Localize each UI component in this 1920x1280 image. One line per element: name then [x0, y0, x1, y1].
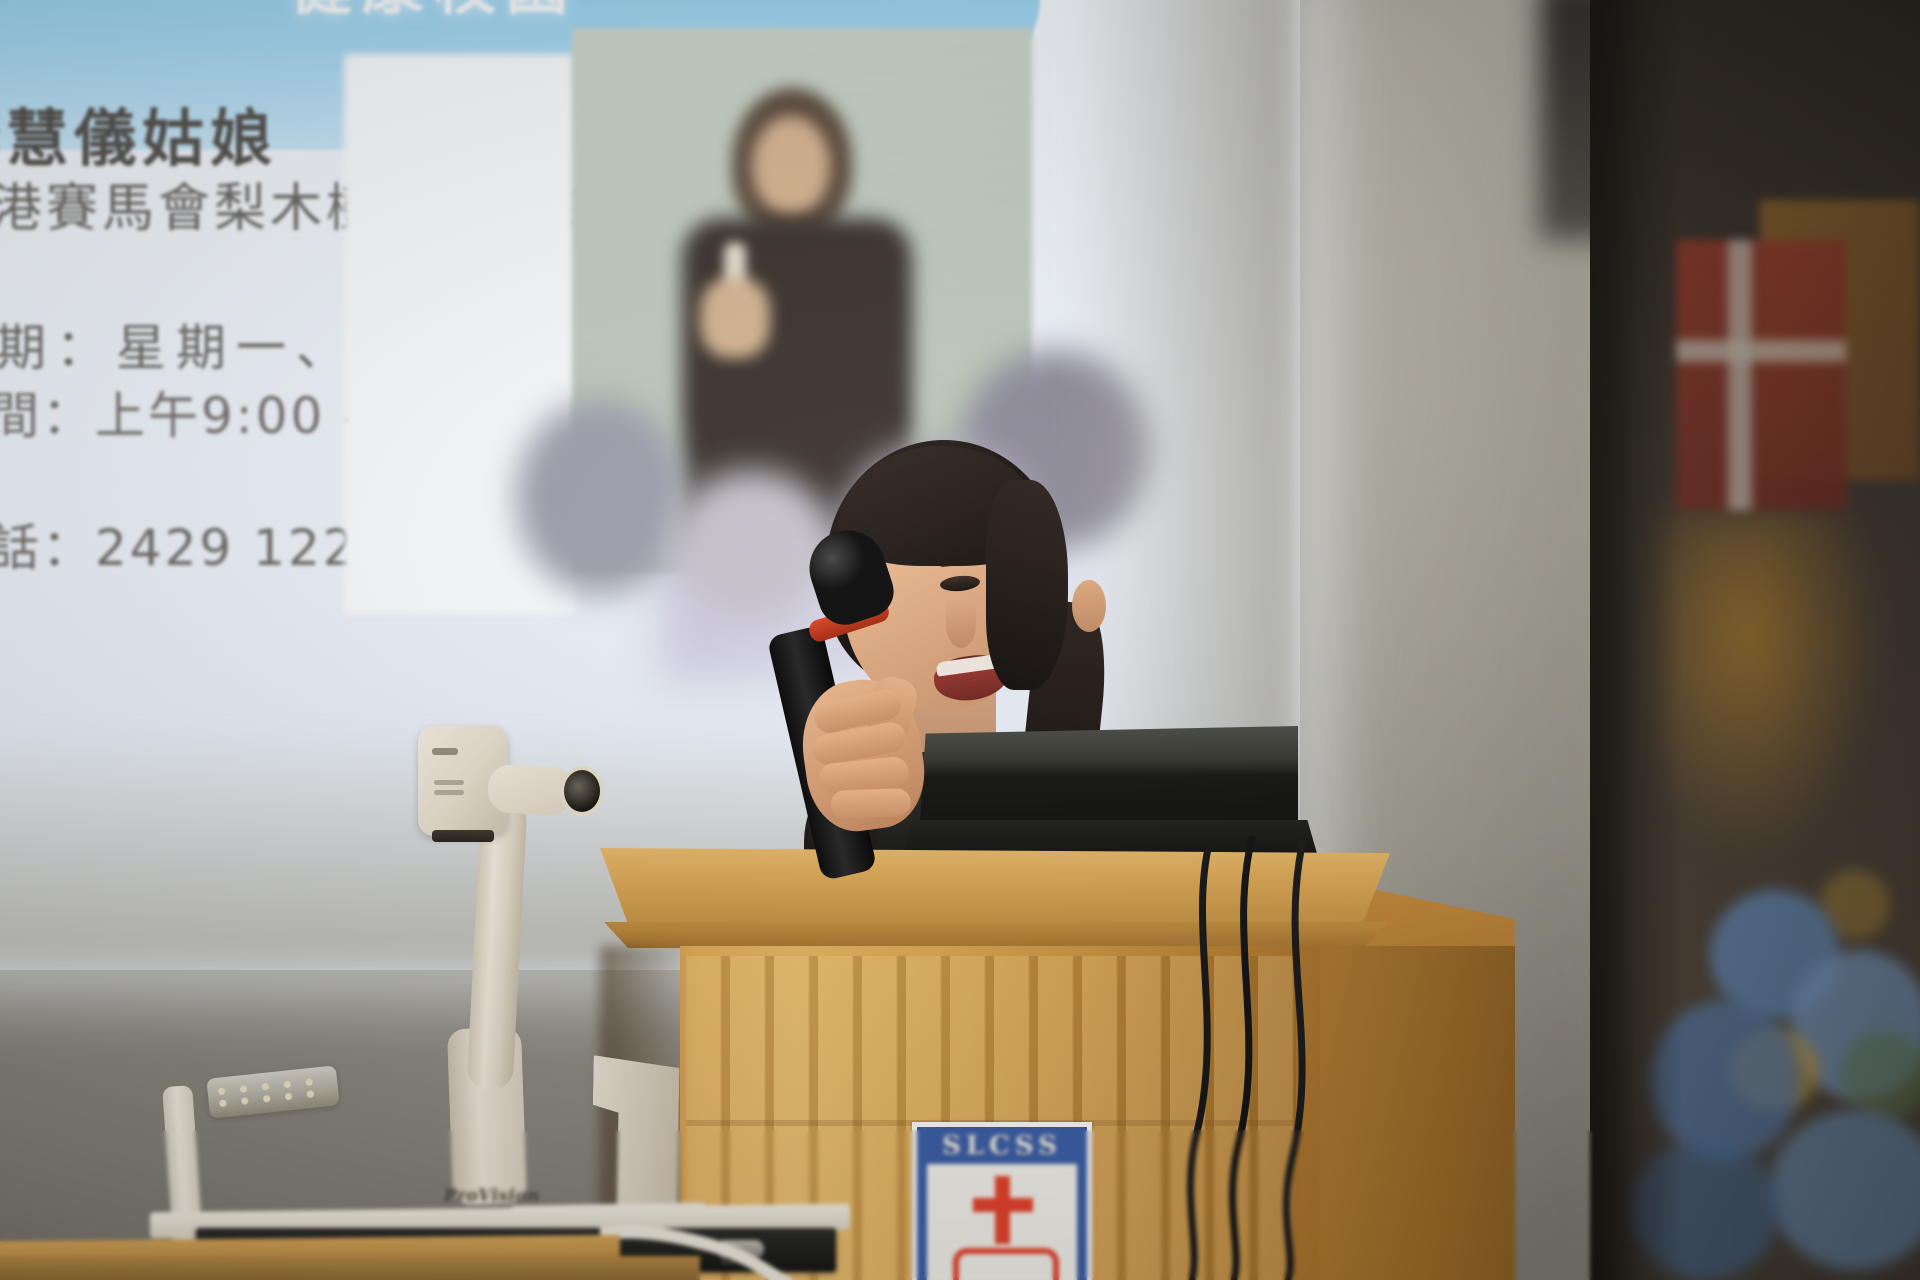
- slide-title: 健康校園: [290, 0, 578, 26]
- speaker-finger-4: [830, 788, 911, 819]
- crest-book-right-page: [1003, 1248, 1059, 1280]
- banner-shading: [1590, 0, 1920, 1280]
- crest-cross-horizontal: [973, 1198, 1033, 1212]
- led-lamp-diodes: [213, 1074, 333, 1110]
- visualizer-lens: [560, 766, 604, 816]
- school-crest: SLCSS: [912, 1122, 1092, 1280]
- speaker-nose: [946, 600, 976, 648]
- crest-book-left-page: [953, 1248, 1009, 1280]
- speaker-eye-left: [939, 574, 980, 592]
- banner-left-edge: [1590, 0, 1636, 1280]
- visualizer-housing-base: [432, 830, 494, 842]
- speaker-ear: [1072, 580, 1106, 632]
- slide-phone-line: 電話：2429 1221: [0, 508, 392, 580]
- speaker-hair-side: [986, 480, 1068, 690]
- crest-white-field: [927, 1164, 1077, 1280]
- photo-scene: 健康校園 李慧儀姑娘 香港賽馬會梨木樹青少年綜合服務 日期：星期一、二、四、五 …: [0, 0, 1920, 1280]
- visualizer-vent-line-1: [434, 780, 464, 785]
- crest-field-blue: SLCSS: [917, 1127, 1087, 1280]
- slide-presenter-line: 李慧儀姑娘: [0, 88, 278, 178]
- slide-audience-blur-1: [516, 400, 686, 595]
- crest-school-initials: SLCSS: [942, 1131, 1062, 1161]
- visualizer-vent-line-2: [434, 790, 464, 795]
- podium-cables: [1180, 836, 1380, 1280]
- slide-photo-person-hand: [700, 278, 770, 358]
- table-front-edge: [0, 1256, 700, 1280]
- slide-photo-person-face: [752, 116, 830, 216]
- decorative-banner: [1590, 0, 1920, 1280]
- speaker-teeth: [936, 654, 999, 676]
- visualizer-vent-slot: [432, 748, 458, 755]
